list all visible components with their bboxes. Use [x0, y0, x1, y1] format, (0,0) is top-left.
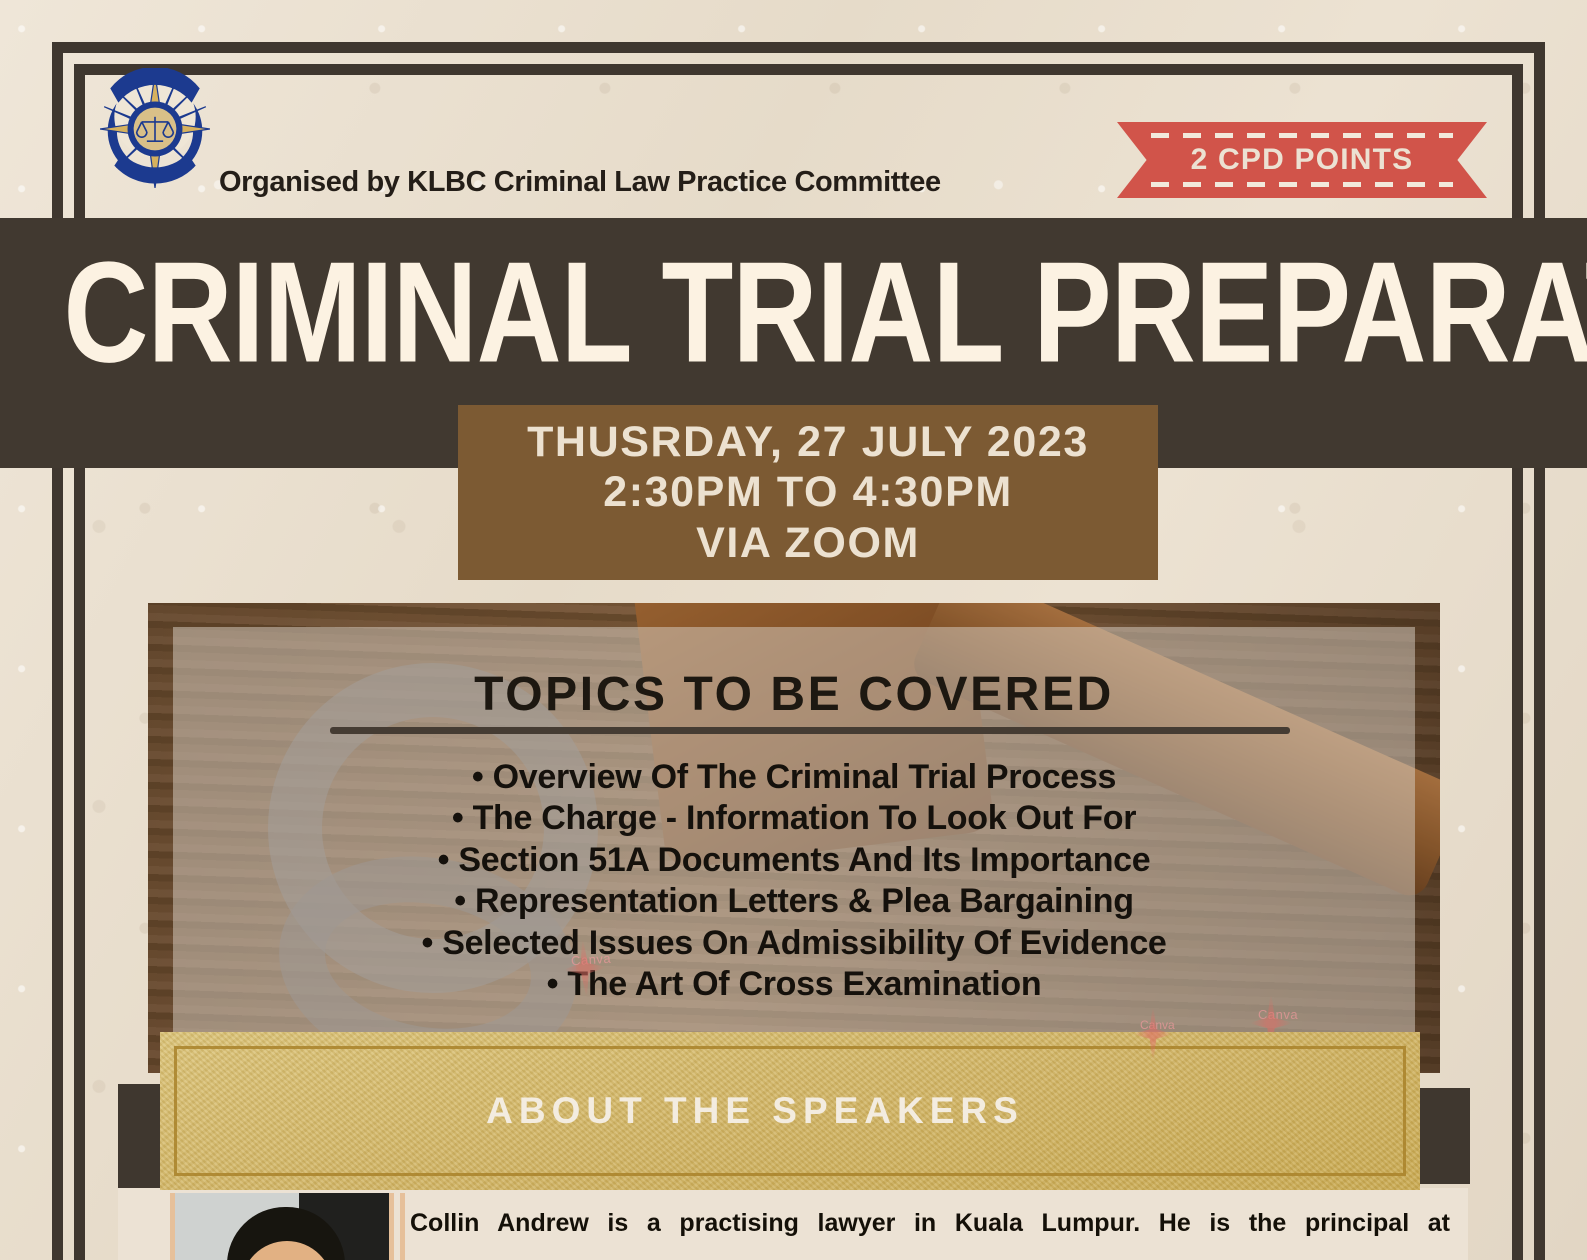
canva-watermark: Canva: [1140, 1018, 1175, 1032]
event-date: THUSRDAY, 27 JULY 2023: [527, 418, 1089, 466]
topics-divider: [330, 727, 1290, 734]
bio-divider: [400, 1193, 405, 1260]
event-platform: VIA ZOOM: [696, 519, 920, 567]
bar-malaysia-logo-icon: [94, 68, 216, 190]
speaker-bio-text: Collin Andrew is a practising lawyer in …: [410, 1208, 1450, 1239]
cpd-points-ribbon: 2 CPD POINTS: [1117, 122, 1487, 198]
topic-item: Representation Letters & Plea Bargaining: [173, 881, 1415, 922]
topics-heading: TOPICS TO BE COVERED: [173, 667, 1415, 722]
event-details-box: THUSRDAY, 27 JULY 2023 2:30PM TO 4:30PM …: [458, 405, 1158, 580]
topic-item: The Art Of Cross Examination: [173, 964, 1415, 1005]
topic-item: Section 51A Documents And Its Importance: [173, 840, 1415, 881]
about-speakers-banner: ABOUT THE SPEAKERS: [160, 1032, 1420, 1190]
canva-watermark: Canva: [1258, 1007, 1298, 1022]
speaker-avatar: [170, 1193, 394, 1260]
topic-item: Overview Of The Criminal Trial Process: [173, 757, 1415, 798]
header: Organised by KLBC Criminal Law Practice …: [0, 0, 1587, 218]
topic-item: The Charge - Information To Look Out For: [173, 798, 1415, 839]
canva-watermark: Canva: [571, 951, 612, 969]
topics-image-panel: TOPICS TO BE COVERED Overview Of The Cri…: [148, 603, 1440, 1073]
topics-overlay: TOPICS TO BE COVERED Overview Of The Cri…: [173, 627, 1415, 1047]
about-speakers-label: ABOUT THE SPEAKERS: [160, 1032, 1350, 1190]
bottom-left-dark-block: [118, 1084, 162, 1190]
topic-item: Selected Issues On Admissibility Of Evid…: [173, 923, 1415, 964]
event-time: 2:30PM TO 4:30PM: [603, 468, 1013, 516]
organised-by-label: Organised by KLBC Criminal Law Practice …: [219, 166, 941, 199]
speaker-bio: Collin Andrew is a practising lawyer in …: [410, 1188, 1450, 1260]
topics-list: Overview Of The Criminal Trial Process T…: [173, 757, 1415, 1006]
page-title: CRIMINAL TRIAL PREPARATION: [63, 236, 1523, 391]
cpd-points-label: 2 CPD POINTS: [1191, 143, 1414, 177]
